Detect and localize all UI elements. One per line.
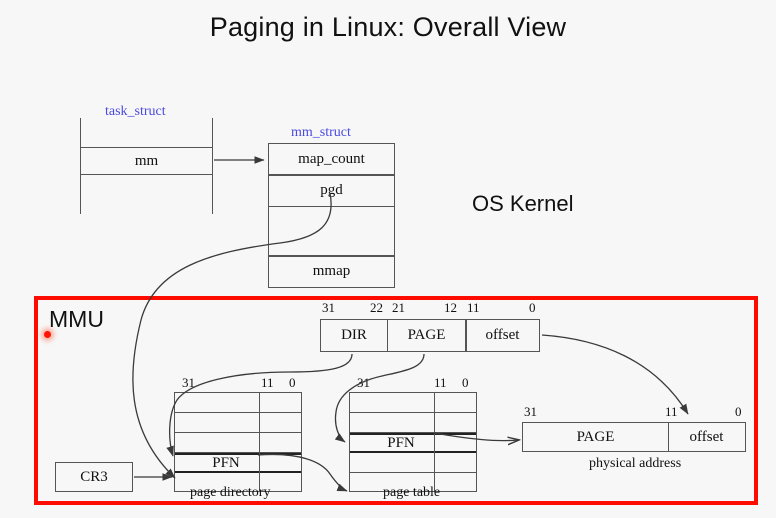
cr3-register-box: CR3 [55,462,133,492]
va-offset-lo-bit: 0 [529,300,536,316]
page-directory-table: PFN [174,392,302,492]
page-table-row [350,453,476,473]
cursor-pointer-dot [44,331,51,338]
pa-hi-bit: 31 [524,404,537,420]
page-directory-pfn-entry: PFN [212,455,240,472]
pa-lo-bit: 0 [735,404,742,420]
page-table-row [350,413,476,433]
task-struct-field-mm: mm [80,148,213,174]
mm-struct-row-empty [268,206,395,256]
physical-address-caption: physical address [589,456,681,472]
page-directory-row [175,393,301,413]
page-table-pfn-entry: PFN [387,435,415,452]
pgdir-mid-bit: 11 [261,375,274,391]
mm-struct-row-pgd: pgd [268,175,395,207]
page-table-row [350,393,476,413]
va-dir-lo-bit: 22 [370,300,383,316]
va-field-offset: offset [465,319,540,352]
page-table-caption: page table [383,485,440,501]
pa-field-offset: offset [668,422,746,452]
pgdir-lo-bit: 0 [289,375,296,391]
mm-struct-label: mm_struct [291,125,351,141]
va-field-page: PAGE [387,319,467,352]
task-struct-label: task_struct [105,104,166,120]
va-dir-hi-bit: 31 [322,300,335,316]
page-directory-caption: page directory [190,485,270,501]
page-directory-bit-divider [259,393,260,491]
page-table-table: PFN [349,392,477,492]
pgtbl-lo-bit: 0 [462,375,469,391]
mmu-label: MMU [49,306,104,333]
va-offset-hi-bit: 11 [467,300,480,316]
va-page-lo-bit: 12 [444,300,457,316]
page-directory-row [175,413,301,433]
pgtbl-hi-bit: 31 [357,375,370,391]
mm-struct-row-mmap: mmap [268,256,395,288]
va-field-dir: DIR [320,319,388,352]
pgdir-hi-bit: 31 [182,375,195,391]
page-directory-row [175,433,301,453]
pa-mid-bit: 11 [665,404,678,420]
mm-struct-row-map-count: map_count [268,143,395,175]
os-kernel-label: OS Kernel [472,191,574,217]
task-struct-mm-bottom [80,174,213,175]
pgtbl-mid-bit: 11 [434,375,447,391]
page-title: Paging in Linux: Overall View [0,12,776,43]
pa-field-page: PAGE [522,422,669,452]
page-table-bit-divider [434,393,435,491]
va-page-hi-bit: 21 [392,300,405,316]
